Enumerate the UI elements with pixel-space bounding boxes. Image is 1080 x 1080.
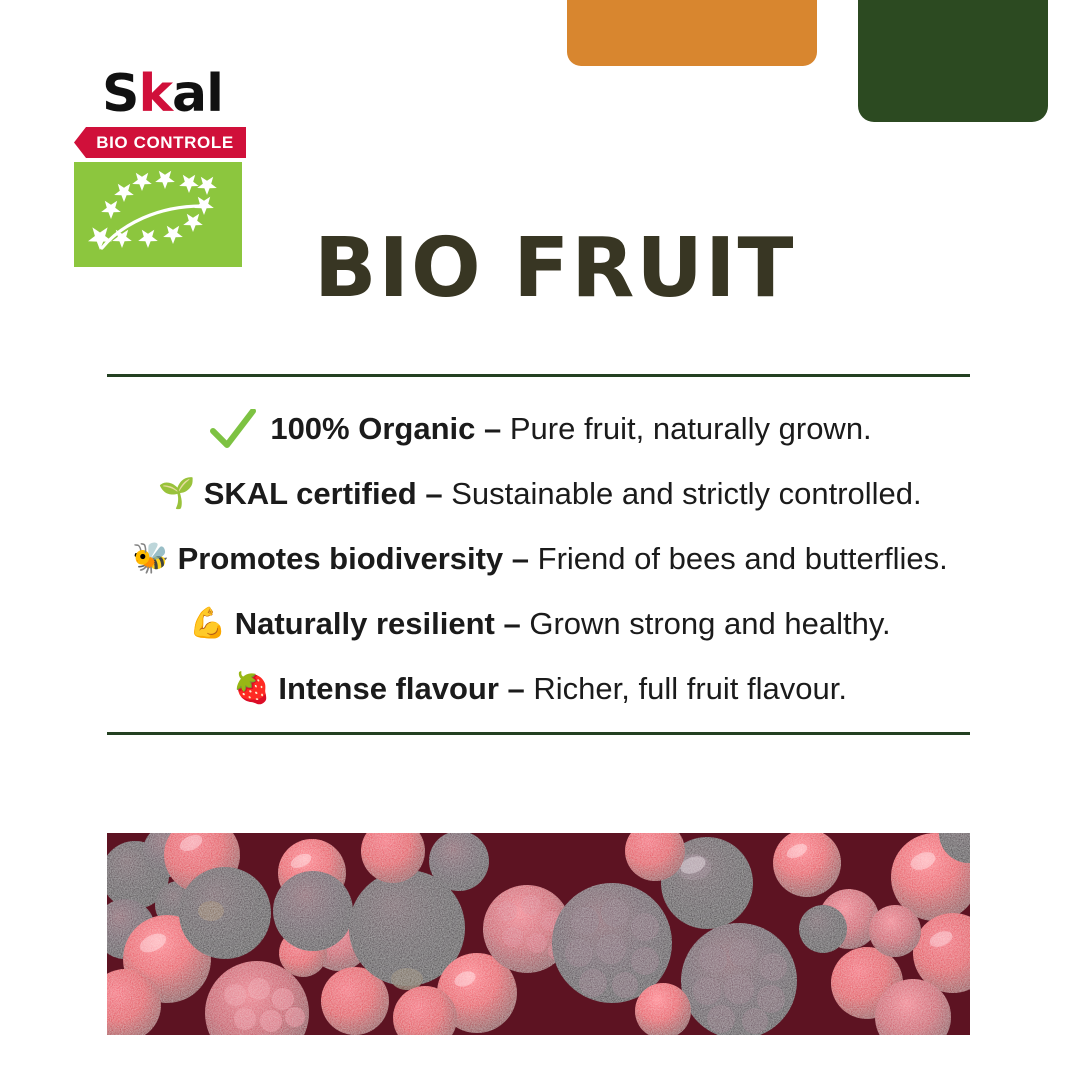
skal-wordmark-accent: k <box>138 64 172 124</box>
skal-wordmark: Skal <box>74 66 246 122</box>
bio-controle-banner: BIO CONTROLE <box>74 127 246 158</box>
benefit-rest: Richer, full fruit flavour. <box>533 671 847 706</box>
page-title: BIO FRUIT <box>314 223 795 315</box>
benefit-item-organic: 100% Organic – Pure fruit, naturally gro… <box>60 396 1020 461</box>
honeybee-icon: 🐝 <box>132 544 169 574</box>
benefit-text: Intense flavour – Richer, full fruit fla… <box>278 672 847 706</box>
benefit-rest: Sustainable and strictly controlled. <box>451 476 921 511</box>
divider-top <box>107 374 970 377</box>
benefit-item-flavour: 🍓 Intense flavour – Richer, full fruit f… <box>60 656 1020 721</box>
benefit-item-skal-certified: 🌱 SKAL certified – Sustainable and stric… <box>60 461 1020 526</box>
skal-logo: Skal BIO CONTROLE <box>74 66 246 267</box>
benefit-item-resilient: 💪 Naturally resilient – Grown strong and… <box>60 591 1020 656</box>
top-orange-block <box>567 0 817 66</box>
benefit-item-biodiversity: 🐝 Promotes biodiversity – Friend of bees… <box>60 526 1020 591</box>
benefit-text: Promotes biodiversity – Friend of bees a… <box>178 542 948 576</box>
benefit-lead: 100% Organic – <box>270 411 510 446</box>
benefit-lead: Intense flavour – <box>278 671 533 706</box>
benefit-text: Naturally resilient – Grown strong and h… <box>235 607 891 641</box>
benefit-rest: Grown strong and healthy. <box>529 606 890 641</box>
frozen-mixed-berries-photo <box>107 833 970 1035</box>
flexed-biceps-icon: 💪 <box>189 609 226 639</box>
eu-organic-leaf-icon <box>74 162 242 267</box>
benefit-lead: Naturally resilient – <box>235 606 530 641</box>
benefit-text: SKAL certified – Sustainable and strictl… <box>204 477 922 511</box>
benefit-rest: Pure fruit, naturally grown. <box>510 411 872 446</box>
benefit-text: 100% Organic – Pure fruit, naturally gro… <box>270 412 871 446</box>
skal-wordmark-prefix: S <box>102 64 138 124</box>
benefits-list: 100% Organic – Pure fruit, naturally gro… <box>60 396 1020 721</box>
check-mark-icon <box>208 409 258 449</box>
divider-bottom <box>107 732 970 735</box>
seedling-icon: 🌱 <box>158 479 195 509</box>
benefit-lead: Promotes biodiversity – <box>178 541 538 576</box>
top-green-block <box>858 0 1048 122</box>
bio-controle-banner-label: BIO CONTROLE <box>74 127 246 158</box>
skal-wordmark-suffix: al <box>172 64 223 124</box>
benefit-rest: Friend of bees and butterflies. <box>538 541 948 576</box>
benefit-lead: SKAL certified – <box>204 476 452 511</box>
strawberry-icon: 🍓 <box>233 674 270 704</box>
